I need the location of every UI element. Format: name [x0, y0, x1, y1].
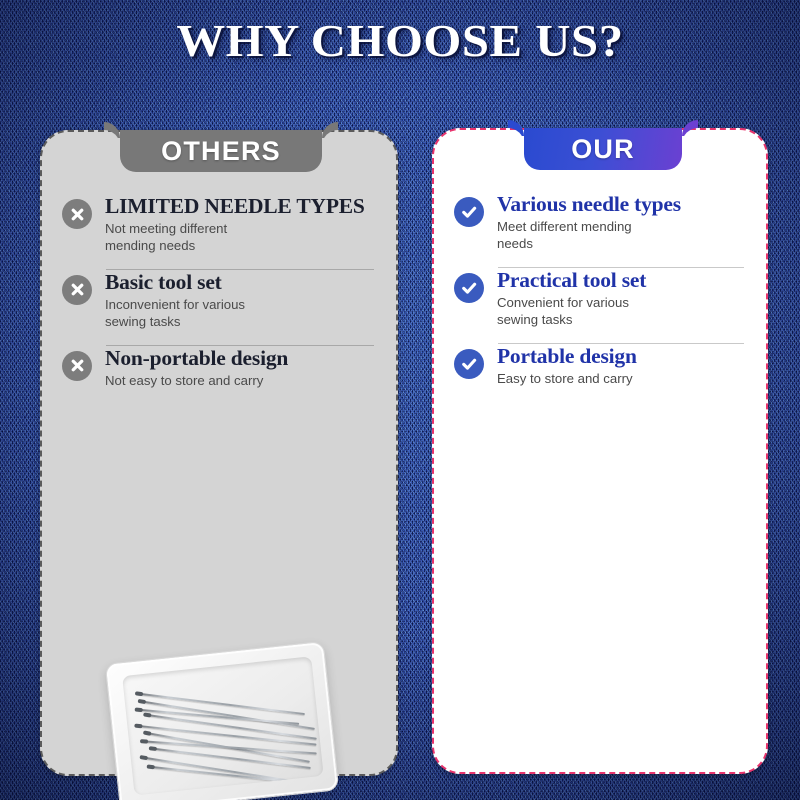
feature-row: Various needle types Meet different mend… [434, 192, 766, 253]
others-tab-label: OTHERS [161, 136, 281, 167]
cross-icon [62, 199, 92, 229]
feature-description: Meet different mending needs [497, 219, 748, 253]
feature-description: Not meeting different mending needs [105, 221, 378, 255]
others-card: OTHERS LIMITED NEEDLE TYPES Not meeting … [40, 130, 398, 776]
cross-icon [62, 351, 92, 381]
feature-row: Basic tool set Inconvenient for various … [42, 270, 396, 331]
our-tab: OUR [524, 128, 682, 170]
our-tab-label: OUR [571, 134, 635, 165]
needle-case-inner [122, 656, 324, 795]
feature-row: Portable design Easy to store and carry [434, 344, 766, 388]
feature-row: Non-portable design Not easy to store an… [42, 346, 396, 390]
feature-description: Easy to store and carry [497, 371, 748, 388]
check-icon [454, 349, 484, 379]
others-tab: OTHERS [120, 130, 322, 172]
feature-heading: Non-portable design [105, 346, 378, 370]
check-icon [454, 273, 484, 303]
feature-description: Convenient for various sewing tasks [497, 295, 748, 329]
others-feature-list: LIMITED NEEDLE TYPES Not meeting differe… [42, 194, 396, 392]
cross-icon [62, 275, 92, 305]
needle-case-photo [105, 641, 339, 800]
feature-heading: Portable design [497, 344, 748, 368]
feature-row: LIMITED NEEDLE TYPES Not meeting differe… [42, 194, 396, 255]
feature-description: Not easy to store and carry [105, 373, 378, 390]
our-feature-list: Various needle types Meet different mend… [434, 192, 766, 390]
feature-row: Practical tool set Convenient for variou… [434, 268, 766, 329]
feature-description: Inconvenient for various sewing tasks [105, 297, 378, 331]
page-title: WHY CHOOSE US? [0, 14, 800, 67]
our-card: OUR Various needle types Meet different … [432, 128, 768, 774]
feature-heading: LIMITED NEEDLE TYPES [105, 194, 378, 218]
feature-heading: Practical tool set [497, 268, 748, 292]
feature-heading: Basic tool set [105, 270, 378, 294]
check-icon [454, 197, 484, 227]
feature-heading: Various needle types [497, 192, 748, 216]
